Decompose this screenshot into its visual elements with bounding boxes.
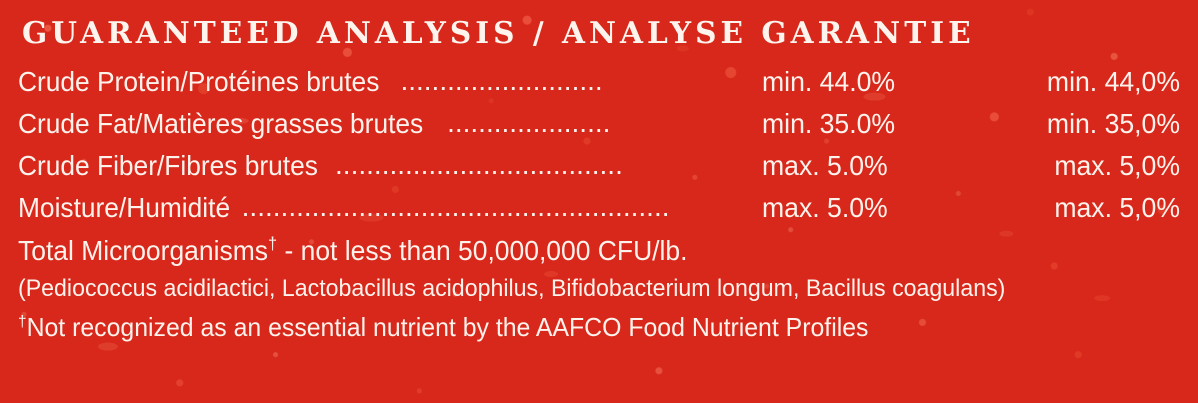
dot-leader: ..................... — [447, 102, 754, 144]
nutrient-value-en: max. 5.0% — [762, 145, 969, 187]
nutrient-name: Moisture/Humidité — [18, 187, 230, 229]
nutrient-row: Crude Fiber/Fibres brutes ..............… — [18, 145, 1180, 187]
microorganisms-statement: - not less than 50,000,000 CFU/lb. — [277, 235, 687, 266]
dot-leader: ..................................... — [335, 144, 754, 186]
dot-leader: ........................................… — [242, 186, 754, 228]
dagger-marker-inline: † — [268, 234, 277, 254]
nutrient-row: Crude Fat/Matières grasses brutes ......… — [18, 103, 1180, 145]
nutrient-value-fr: max. 5,0% — [990, 187, 1180, 229]
nutrient-value-en: min. 35.0% — [762, 103, 969, 145]
nutrient-row: Crude Protein/Protéines brutes .........… — [18, 61, 1180, 103]
guaranteed-analysis-panel: GUARANTEED ANALYSIS / ANALYSE GARANTIE C… — [0, 0, 1198, 403]
nutrient-row: Moisture/Humidité ......................… — [18, 187, 1180, 229]
dagger-marker-footnote: † — [18, 312, 27, 330]
nutrient-value-en: min. 44.0% — [762, 61, 969, 103]
nutrient-value-fr: min. 44,0% — [990, 61, 1180, 103]
dot-leader: .......................... — [400, 60, 754, 102]
total-microorganisms-line: Total Microorganisms† - not less than 50… — [18, 231, 1116, 271]
guaranteed-analysis-title: GUARANTEED ANALYSIS / ANALYSE GARANTIE — [22, 0, 1163, 49]
nutrient-table: Crude Protein/Protéines brutes .........… — [18, 61, 1180, 229]
nutrient-name: Crude Fiber/Fibres brutes — [18, 145, 318, 187]
footnote-text: Not recognized as an essential nutrient … — [27, 312, 869, 342]
nutrient-value-en: max. 5.0% — [762, 187, 969, 229]
aafco-footnote-line: †Not recognized as an essential nutrient… — [18, 308, 1128, 346]
nutrient-value-fr: max. 5,0% — [990, 145, 1180, 187]
microorganisms-label: Total Microorganisms — [18, 235, 268, 266]
probiotic-strains-line: (Pediococcus acidilactici, Lactobacillus… — [18, 271, 1139, 307]
nutrient-value-fr: min. 35,0% — [990, 103, 1180, 145]
panel-content: GUARANTEED ANALYSIS / ANALYSE GARANTIE C… — [0, 0, 1198, 346]
nutrient-name: Crude Fat/Matières grasses brutes — [18, 103, 423, 145]
nutrient-name: Crude Protein/Protéines brutes — [18, 61, 379, 103]
